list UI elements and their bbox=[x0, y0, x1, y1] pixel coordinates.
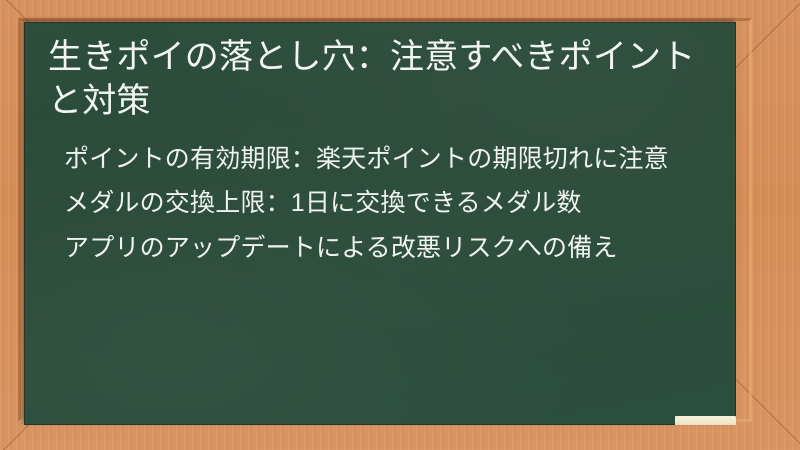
list-item: アプリのアップデートによる改悪リスクへの備え bbox=[64, 232, 712, 265]
list-item: メダルの交換上限：1日に交換できるメダル数 bbox=[64, 187, 712, 220]
chalkboard-surface: 生きポイの落とし穴：注意すべきポイントと対策 ポイントの有効期限：楽天ポイントの… bbox=[24, 22, 736, 425]
list-item: ポイントの有効期限：楽天ポイントの期限切れに注意 bbox=[64, 143, 712, 176]
slide-title: 生きポイの落とし穴：注意すべきポイントと対策 bbox=[42, 36, 718, 123]
chalk-stick bbox=[675, 416, 736, 425]
chalkboard-content: 生きポイの落とし穴：注意すべきポイントと対策 ポイントの有効期限：楽天ポイントの… bbox=[24, 22, 736, 425]
frame-corner-bottom-right bbox=[736, 386, 800, 450]
frame-corner-top-right bbox=[736, 0, 800, 64]
chalkboard-slide: 生きポイの落とし穴：注意すべきポイントと対策 ポイントの有効期限：楽天ポイントの… bbox=[0, 0, 800, 450]
bullet-list: ポイントの有効期限：楽天ポイントの期限切れに注意 メダルの交換上限：1日に交換で… bbox=[42, 143, 718, 265]
